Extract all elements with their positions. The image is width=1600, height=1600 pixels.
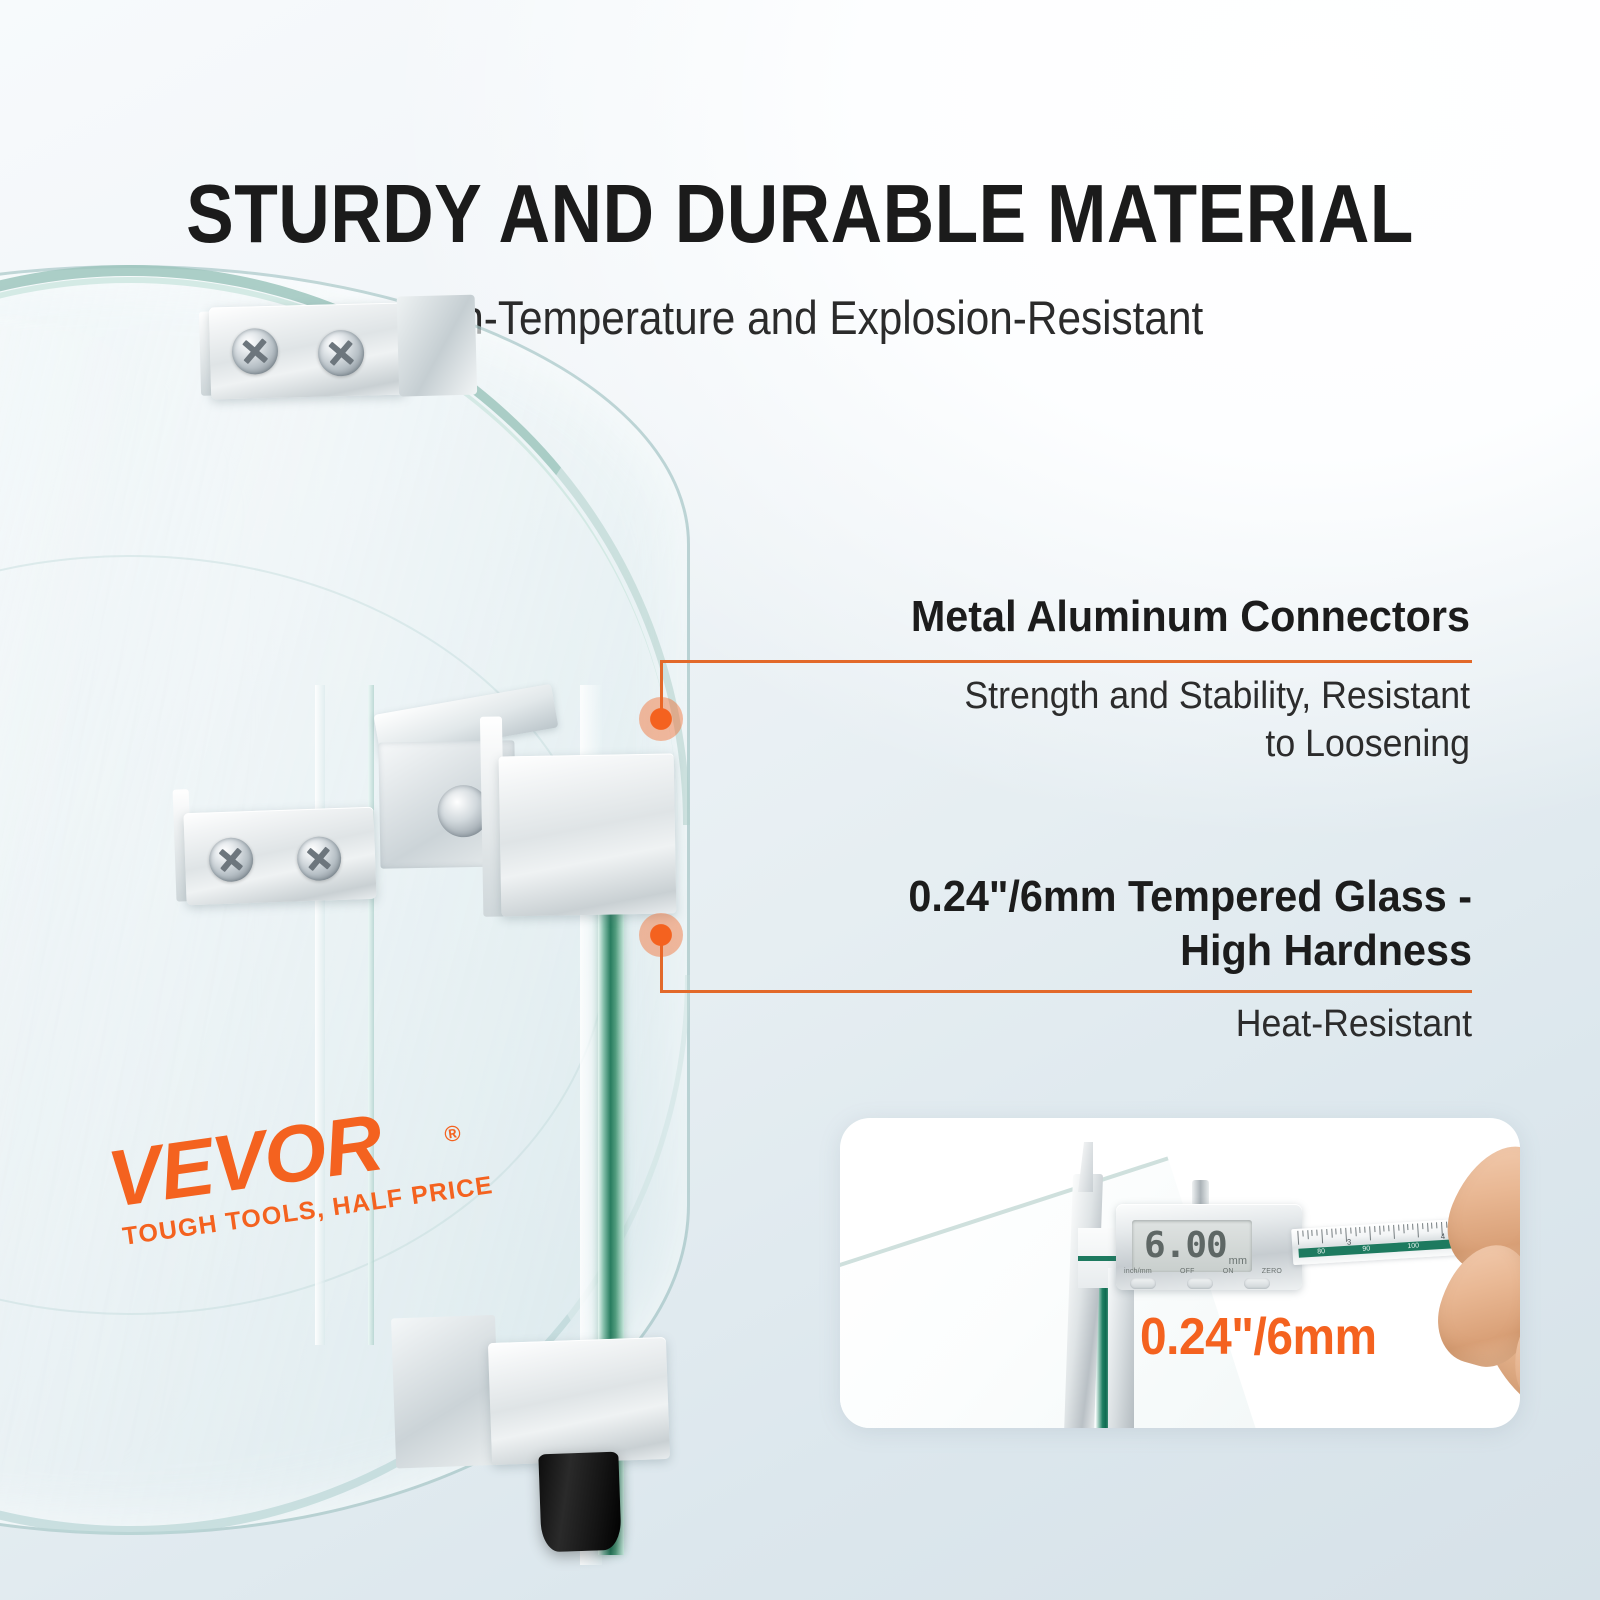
caliper-label-off: OFF xyxy=(1180,1268,1195,1275)
aluminum-connector-bottom xyxy=(488,1337,670,1465)
caliper-label-zero: ZERO xyxy=(1262,1268,1282,1275)
callout-1-subtitle-line1: Strength and Stability, Resistant xyxy=(812,672,1470,720)
callout-2-marker-dot[interactable] xyxy=(639,913,683,957)
middle-finger xyxy=(1427,1234,1520,1377)
bracket-plate xyxy=(488,1337,670,1465)
marketing-slide: STURDY AND DURABLE MATERIAL High-Tempera… xyxy=(0,0,1600,1600)
metric-tick: 80 xyxy=(1317,1248,1325,1255)
caliper-button-labels: inch/mm OFF ON ZERO xyxy=(1124,1268,1282,1275)
caliper-buttons[interactable] xyxy=(1130,1278,1270,1294)
callout-1-rule xyxy=(660,660,1472,663)
aluminum-connector-center xyxy=(499,753,677,916)
hand-holding-caliper xyxy=(1436,1126,1520,1426)
metric-tick: 100 xyxy=(1407,1242,1419,1250)
caliper-label-on: ON xyxy=(1223,1268,1234,1275)
bracket-back-plate xyxy=(391,1315,500,1469)
callout-2-title-line1: 0.24"/6mm Tempered Glass - xyxy=(746,870,1472,924)
callout-1-subtitle-line2: to Loosening xyxy=(812,720,1470,768)
page-title: STURDY AND DURABLE MATERIAL xyxy=(112,168,1488,260)
callout-2-title-line2: High Hardness xyxy=(746,924,1472,978)
caliper-upper-blade xyxy=(1078,1142,1093,1192)
callout-1-title: Metal Aluminum Connectors xyxy=(812,590,1470,644)
caliper-button-inchmm[interactable] xyxy=(1130,1278,1156,1289)
bracket-plate xyxy=(499,753,677,916)
aluminum-connector-top xyxy=(209,302,406,399)
callout-2-rule xyxy=(660,990,1472,993)
bracket-side-plate xyxy=(397,295,478,397)
caliper-button-off[interactable] xyxy=(1187,1278,1213,1289)
rubber-foot xyxy=(538,1452,621,1553)
metric-tick: 90 xyxy=(1362,1245,1370,1252)
caliper-button-on[interactable] xyxy=(1244,1278,1270,1289)
caliper-thumb-knob[interactable] xyxy=(1192,1180,1209,1206)
thickness-label: 0.24"/6mm xyxy=(1140,1308,1377,1366)
caliper-lcd-display: 6.00 mm xyxy=(1132,1220,1252,1272)
caliper-measurement-inset: 6.00 mm inch/mm OFF ON ZERO 3 4 5 80 90 xyxy=(840,1118,1520,1428)
callout-2-subtitle: Heat-Resistant xyxy=(746,1000,1472,1048)
callout-1-marker-dot[interactable] xyxy=(639,697,683,741)
product-photo: VEVOR® TOUGH TOOLS, HALF PRICE xyxy=(0,255,840,1600)
aluminum-connector-mid xyxy=(183,807,376,906)
caliper-reading: 6.00 xyxy=(1144,1228,1227,1264)
caliper-label-inchmm: inch/mm xyxy=(1124,1268,1152,1275)
